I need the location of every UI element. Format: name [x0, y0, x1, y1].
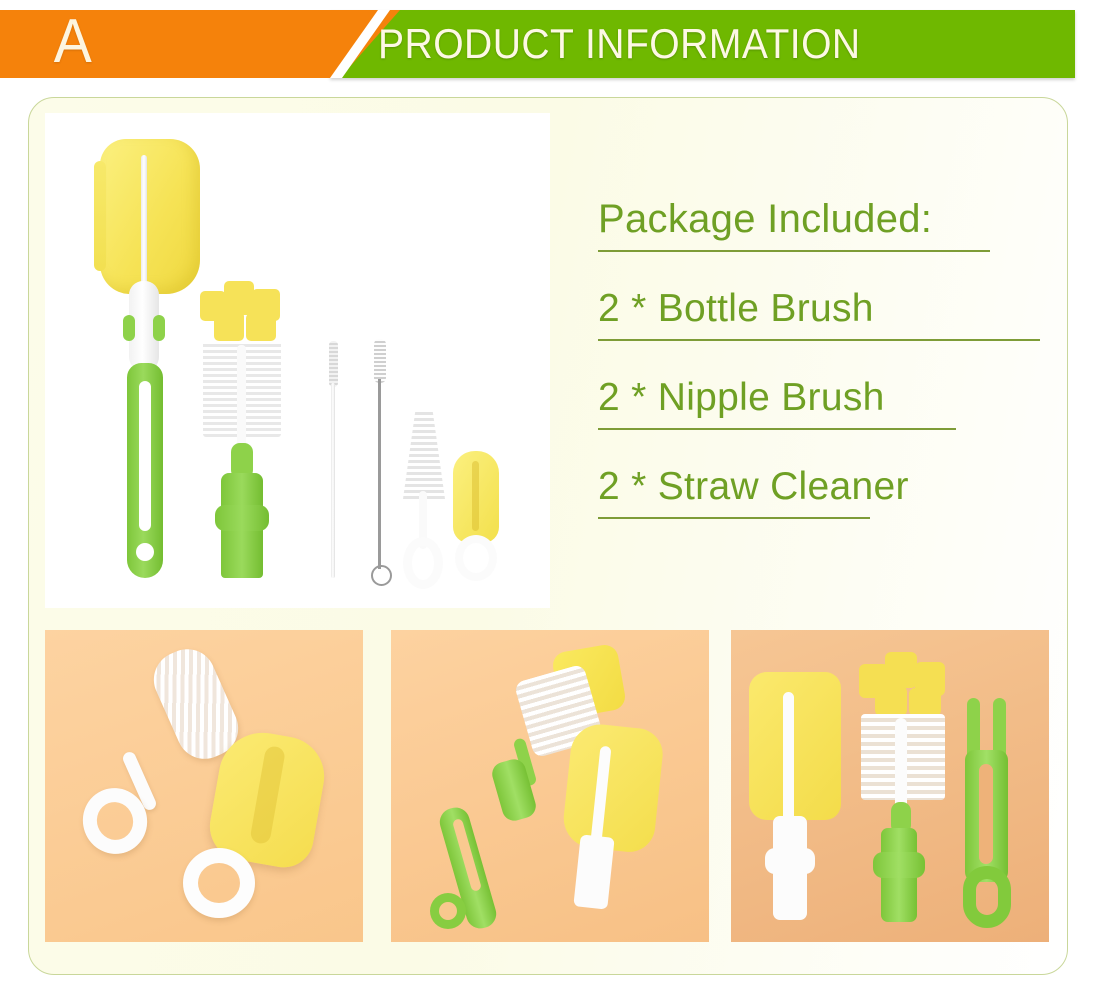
straw-cleaner-shaft-icon	[331, 383, 335, 578]
sponge-brush-white-rod-icon	[783, 692, 794, 822]
wire-straw-brush-loop-icon	[371, 565, 392, 586]
large-brush-hang-hole-icon	[136, 543, 154, 561]
large-sponge-head-icon	[100, 139, 200, 294]
package-item-bottle-brush: 2 * Bottle Brush	[598, 286, 1048, 341]
package-item-label: 2 * Straw Cleaner	[598, 464, 1048, 510]
nipple-brush-loop-handle-icon	[403, 537, 443, 589]
photo-panel-3	[731, 630, 1049, 942]
sponge-brush-white-handle-icon	[573, 834, 614, 909]
sponge-nipple-brush-head-icon	[453, 451, 499, 543]
sponge-brush-head-icon	[749, 672, 841, 820]
section-title: PRODUCT INFORMATION	[378, 10, 861, 78]
bottle-brush-handle-waist-icon	[215, 505, 269, 531]
wire-straw-brush-shaft-icon	[378, 379, 381, 569]
bottle-brush-green-handle-waist-icon	[873, 852, 925, 878]
bottle-brush-core-icon	[237, 345, 246, 450]
photo-panel-1	[45, 630, 363, 942]
large-brush-rod-icon	[141, 155, 147, 300]
package-item-rule	[598, 339, 1040, 341]
sponge-brush-white-handle-waist-icon	[765, 848, 815, 874]
sponge-chunks-icon	[859, 652, 947, 718]
large-brush-clip-right-icon	[153, 315, 165, 341]
package-item-label: 2 * Nipple Brush	[598, 375, 1048, 421]
package-item-rule	[598, 517, 870, 519]
straw-tool-slot-icon	[979, 764, 993, 864]
package-item-rule	[598, 428, 956, 430]
photo-panel-2	[391, 630, 709, 942]
package-item-label: 2 * Bottle Brush	[598, 286, 1048, 332]
package-title: Package Included:	[598, 196, 1048, 243]
package-title-rule	[598, 250, 990, 252]
package-included-list: Package Included: 2 * Bottle Brush 2 * N…	[598, 196, 1048, 519]
header-banner: A PRODUCT INFORMATION	[0, 10, 1075, 78]
sponge-brush-head-icon	[561, 722, 665, 855]
nipple-brush-bristles-icon	[403, 409, 445, 499]
package-item-straw-cleaner: 2 * Straw Cleaner	[598, 464, 1048, 519]
wire-straw-brush-head-icon	[374, 339, 386, 383]
hero-photo-stage	[45, 113, 550, 608]
sponge-nipple-brush-loop-icon	[455, 535, 497, 581]
product-photo-panels	[45, 630, 1055, 942]
bottle-brush-hang-hole-icon	[439, 902, 457, 920]
package-title-row: Package Included:	[598, 196, 1048, 252]
package-item-nipple-brush: 2 * Nipple Brush	[598, 375, 1048, 430]
large-brush-clip-left-icon	[123, 315, 135, 341]
sponge-chunks-icon	[200, 281, 282, 343]
hero-product-photo	[45, 113, 550, 608]
large-brush-grip-slot-icon	[139, 381, 151, 531]
section-badge-letter: A	[54, 8, 93, 76]
straw-cleaner-head-icon	[329, 341, 338, 387]
straw-tool-hang-loop-icon	[963, 866, 1011, 928]
sponge-brush-ring-handle-icon	[183, 848, 255, 918]
